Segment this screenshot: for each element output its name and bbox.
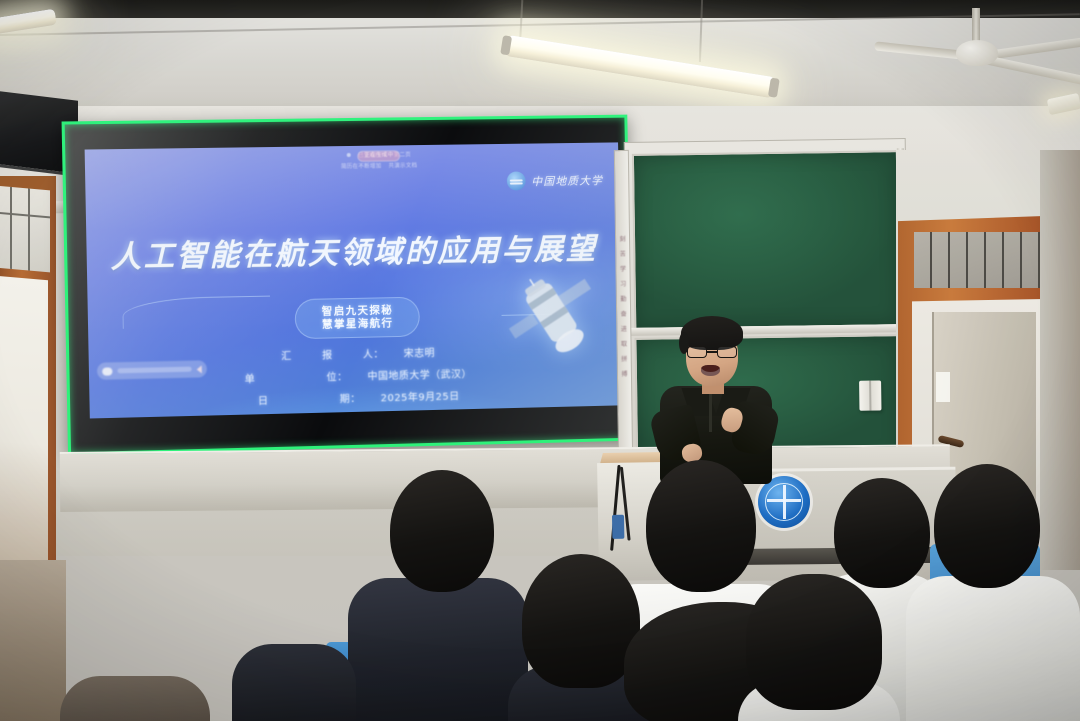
student: [60, 676, 210, 721]
motto-char: 搏: [621, 369, 627, 378]
motto-char: 进: [621, 324, 627, 333]
motto-char: 刻: [619, 234, 625, 243]
meta-label-char: 单: [244, 370, 255, 385]
meta-colon: ：: [373, 345, 384, 360]
meta-label-char: 位: [326, 368, 337, 383]
student: [906, 464, 1080, 721]
presenter-mouth: [701, 365, 720, 376]
presenter: [650, 312, 786, 484]
meta-value-presenter: 宋志明: [404, 344, 436, 360]
student-torso: [348, 578, 528, 721]
student: [348, 470, 528, 721]
chalk-holder[interactable]: [859, 380, 881, 410]
student-torso: [232, 644, 356, 721]
meta-label-char: 汇: [281, 347, 292, 362]
presenter-placket: [709, 392, 712, 432]
motto-char: 学: [620, 264, 626, 273]
meta-label-char: 日: [258, 392, 269, 407]
meta-row-presenter: 汇 报 人 ： 宋志明: [281, 344, 435, 362]
student-torso: [60, 676, 210, 721]
slide-top-badges: 已生成PPT 第二页 简历在不断增加 共演示文档 正在生成中: [341, 150, 418, 170]
motto-char: 奋: [621, 309, 627, 318]
meta-colon: ：: [337, 368, 348, 383]
media-progress-widget[interactable]: [97, 360, 207, 380]
student-head: [746, 574, 882, 710]
motto-char: 勤: [620, 294, 626, 303]
subtitle-arc-left: [122, 296, 270, 329]
motto-char: 取: [621, 339, 627, 348]
left-transom-window: [0, 186, 50, 273]
blackboard-panel-upper: [632, 150, 900, 330]
student-head: [390, 470, 494, 592]
glasses-icon: [687, 346, 737, 358]
meta-label-char: 报: [322, 346, 333, 361]
meta-value-affiliation: 中国地质大学（武汉）: [367, 365, 472, 382]
slide-badge: 简历在不断增加: [341, 162, 382, 171]
badge-dot-icon: [347, 153, 351, 157]
slide-badge-generating: 正在生成中: [357, 150, 400, 161]
motto-char: 拼: [621, 354, 627, 363]
classroom-photo-scene: 已生成PPT 第二页 简历在不断增加 共演示文档 正在生成中 中国地质大学 人工…: [0, 0, 1080, 721]
slide-title: 人工智能在航天领域的应用与展望: [86, 223, 620, 276]
slide-subtitle-line2: 慧掌星海航行: [322, 317, 394, 332]
presentation-slide: 已生成PPT 第二页 简历在不断增加 共演示文档 正在生成中 中国地质大学 人工…: [85, 142, 623, 418]
presenter-hair: [681, 316, 743, 350]
play-indicator-icon: [102, 367, 112, 375]
fluorescent-tube-light: [505, 35, 775, 98]
student: [232, 632, 356, 721]
university-logo-text: 中国地质大学: [531, 172, 603, 189]
tube-cap: [500, 35, 512, 55]
university-logo: 中国地质大学: [507, 170, 604, 190]
meta-label-char: 人: [363, 346, 374, 361]
tube-cap: [768, 78, 780, 98]
student-head: [646, 460, 756, 592]
motto-char: 苦: [620, 249, 626, 258]
collapse-caret-icon[interactable]: [197, 365, 202, 373]
progress-bar[interactable]: [117, 367, 191, 374]
motto-char: 习: [620, 279, 626, 288]
fan-rod: [972, 8, 980, 44]
meta-colon: ：: [350, 390, 361, 405]
university-logo-icon: [507, 171, 526, 190]
meta-row-affiliation: 单 位 ： 中国地质大学（武汉）: [244, 365, 471, 385]
student-head: [934, 464, 1040, 588]
student-torso: [906, 576, 1080, 721]
meta-label-char: 期: [340, 390, 351, 405]
slide-subtitle-pill: 智启九天探秘 慧掌星海航行: [295, 297, 421, 340]
meta-value-date: 2025年9月25日: [380, 387, 459, 404]
meta-row-date: 日 期 ： 2025年9月25日: [258, 387, 460, 407]
student-head: [522, 554, 640, 688]
ceiling-fan-icon: [880, 8, 1080, 96]
projection-screen[interactable]: 已生成PPT 第二页 简历在不断增加 共演示文档 正在生成中 中国地质大学 人工…: [62, 115, 634, 456]
fan-motor: [956, 40, 998, 66]
student: [738, 574, 900, 721]
slide-badge: 共演示文档: [388, 161, 417, 169]
door-sign: [936, 372, 950, 402]
audience: 矿泉水: [0, 460, 1080, 721]
